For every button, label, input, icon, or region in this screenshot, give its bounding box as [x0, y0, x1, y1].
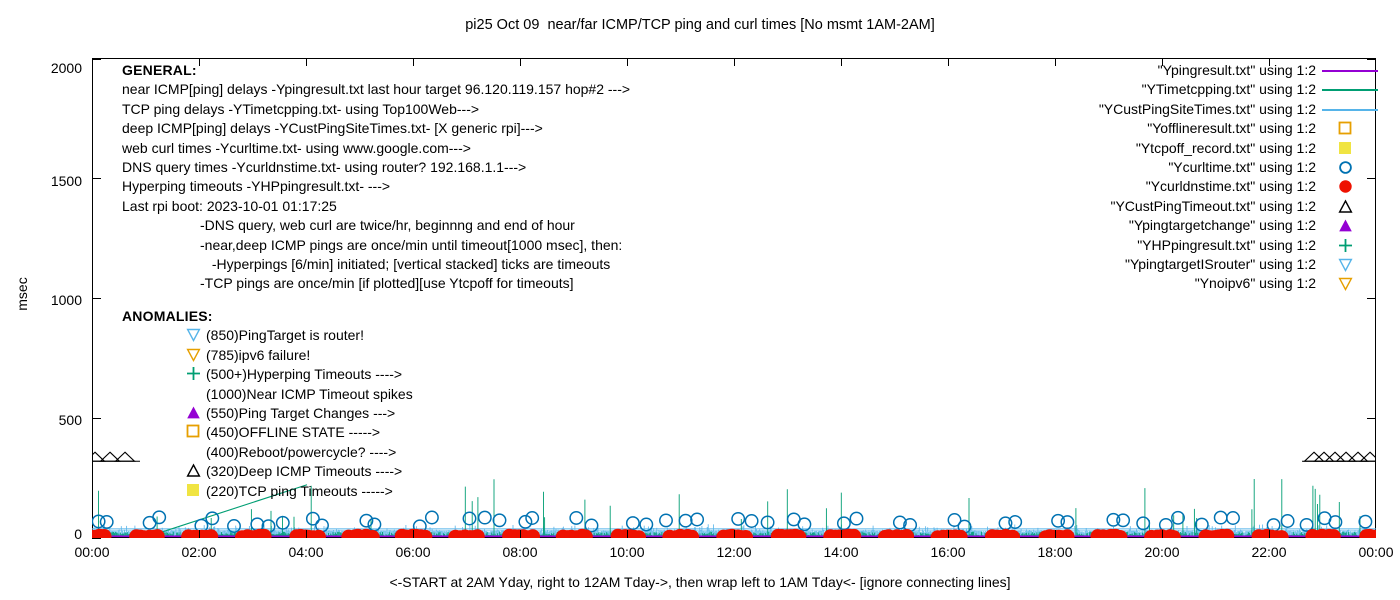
legend-marker-icon — [1338, 276, 1353, 291]
anomaly-marker-open-square-orange-icon — [186, 424, 203, 441]
anomaly-marker-open-down-triangle-blue-icon — [186, 327, 203, 344]
general-line-2: deep ICMP[ping] delays -YCustPingSiteTim… — [122, 119, 630, 138]
x-tick-label-7: 14:00 — [806, 545, 876, 559]
x-tick-mark-7 — [841, 530, 842, 538]
x-tick-mark-8 — [948, 530, 949, 538]
anomaly-row-2: (500+)Hyperping Timeouts ----> — [122, 365, 413, 384]
chart-legend: "Ypingresult.txt" using 1:2"YTimetcpping… — [796, 61, 1316, 294]
legend-line-swatch — [1322, 89, 1378, 91]
anomaly-label-0: (850)PingTarget is router! — [206, 326, 364, 345]
legend-sample-filled-square-icon — [1320, 139, 1380, 158]
x-tick-label-12: 00:00 — [1341, 545, 1400, 559]
anomalies-heading: ANOMALIES: — [122, 307, 413, 326]
anomaly-marker-filled-triangle-purple-icon — [186, 405, 203, 422]
legend-sample-filled-triangle-icon — [1320, 216, 1380, 235]
anomaly-row-1: (785)ipv6 failure! — [122, 346, 413, 365]
x-tick-label-5: 10:00 — [592, 545, 662, 559]
legend-entry-7[interactable]: "YCustPingTimeout.txt" using 1:2 — [796, 197, 1316, 216]
anomalies-rows: (850)PingTarget is router!(785)ipv6 fail… — [122, 326, 413, 501]
general-info-block: GENERAL: near ICMP[ping] delays -Ypingre… — [122, 61, 630, 294]
x-tick-label-11: 22:00 — [1234, 545, 1304, 559]
legend-label-9: "YHPpingresult.txt" using 1:2 — [1137, 236, 1316, 255]
anomalies-block: ANOMALIES: (850)PingTarget is router!(78… — [122, 307, 413, 501]
x-tick-mark-6 — [734, 530, 735, 538]
legend-label-7: "YCustPingTimeout.txt" using 1:2 — [1110, 197, 1316, 216]
legend-marker-icon — [1338, 141, 1353, 156]
general-heading: GENERAL: — [122, 61, 630, 80]
x-tick-label-4: 08:00 — [485, 545, 555, 559]
legend-marker-icon — [1338, 238, 1353, 253]
anomaly-label-7: (320)Deep ICMP Timeouts ----> — [206, 462, 402, 481]
x-tick-label-1: 02:00 — [164, 545, 234, 559]
x-tick-mark-2 — [306, 530, 307, 538]
legend-marker-icon — [1338, 199, 1353, 214]
x-tick-mark-5 — [627, 530, 628, 538]
legend-line-swatch — [1322, 109, 1378, 111]
general-line-4: DNS query times -Ycurldnstime.txt- using… — [122, 158, 630, 177]
anomaly-row-3: (1000)Near ICMP Timeout spikes — [122, 385, 413, 404]
legend-label-1: "YTimetcpping.txt" using 1:2 — [1142, 80, 1316, 99]
anomaly-label-4: (550)Ping Target Changes ---> — [206, 404, 395, 423]
anomaly-row-7: (320)Deep ICMP Timeouts ----> — [122, 462, 413, 481]
legend-sample-line-icon — [1320, 100, 1380, 119]
anomaly-row-6: (400)Reboot/powercycle? ----> — [122, 443, 413, 462]
legend-line-swatch — [1322, 70, 1378, 72]
general-line-1: TCP ping delays -YTimetcpping.txt- using… — [122, 100, 630, 119]
legend-label-3: "Yofflineresult.txt" using 1:2 — [1147, 119, 1316, 138]
general-note-2: -Hyperpings [6/min] initiated; [vertical… — [122, 255, 630, 274]
anomaly-label-3: (1000)Near ICMP Timeout spikes — [206, 385, 413, 404]
legend-entry-4[interactable]: "Ytcpoff_record.txt" using 1:2 — [796, 139, 1316, 158]
legend-entry-0[interactable]: "Ypingresult.txt" using 1:2 — [796, 61, 1316, 80]
general-line-5: Hyperping timeouts -YHPpingresult.txt- -… — [122, 177, 630, 196]
legend-sample-open-square-icon — [1320, 119, 1380, 138]
x-axis-caption: <-START at 2AM Yday, right to 12AM Tday-… — [0, 574, 1400, 590]
anomaly-marker-plus-green-icon — [186, 366, 203, 383]
anomaly-row-0: (850)PingTarget is router! — [122, 326, 413, 345]
legend-label-2: "YCustPingSiteTimes.txt" using 1:2 — [1099, 100, 1316, 119]
anomaly-label-1: (785)ipv6 failure! — [206, 346, 310, 365]
anomaly-marker-none-icon — [186, 386, 203, 403]
anomaly-marker-open-triangle-black-icon — [186, 463, 203, 480]
legend-marker-icon — [1338, 160, 1353, 175]
legend-entry-2[interactable]: "YCustPingSiteTimes.txt" using 1:2 — [796, 100, 1316, 119]
legend-label-0: "Ypingresult.txt" using 1:2 — [1158, 61, 1316, 80]
y-tick-1500: 1500 — [34, 174, 82, 188]
x-tick-mark-6-top — [734, 58, 735, 66]
anomaly-row-8: (220)TCP ping Timeouts -----> — [122, 482, 413, 501]
legend-sample-open-circle-icon — [1320, 158, 1380, 177]
general-line-0: near ICMP[ping] delays -Ypingresult.txt … — [122, 80, 630, 99]
legend-entry-9[interactable]: "YHPpingresult.txt" using 1:2 — [796, 236, 1316, 255]
x-tick-label-6: 12:00 — [699, 545, 769, 559]
legend-label-8: "Ypingtargetchange" using 1:2 — [1129, 216, 1316, 235]
x-tick-mark-11 — [1269, 530, 1270, 538]
x-tick-mark-9 — [1055, 530, 1056, 538]
legend-marker-icon — [1338, 179, 1353, 194]
legend-entry-3[interactable]: "Yofflineresult.txt" using 1:2 — [796, 119, 1316, 138]
legend-label-11: "Ynoipv6" using 1:2 — [1195, 274, 1316, 293]
anomaly-label-6: (400)Reboot/powercycle? ----> — [206, 443, 396, 462]
legend-marker-icon — [1338, 257, 1353, 272]
legend-entry-1[interactable]: "YTimetcpping.txt" using 1:2 — [796, 80, 1316, 99]
x-tick-label-3: 06:00 — [378, 545, 448, 559]
legend-sample-open-down-triangle-icon — [1320, 255, 1380, 274]
x-tick-label-10: 20:00 — [1127, 545, 1197, 559]
anomaly-marker-filled-square-yellow-icon — [186, 483, 203, 500]
anomaly-label-5: (450)OFFLINE STATE -----> — [206, 423, 380, 442]
legend-label-10: "YpingtargetISrouter" using 1:2 — [1125, 255, 1316, 274]
general-line-6: Last rpi boot: 2023-10-01 01:17:25 — [122, 197, 630, 216]
legend-marker-icon — [1338, 218, 1353, 233]
y-tick-500: 500 — [34, 413, 82, 427]
x-tick-mark-10 — [1162, 530, 1163, 538]
anomaly-marker-open-down-triangle-orange-icon — [186, 347, 203, 364]
legend-sample-filled-circle-icon — [1320, 177, 1380, 196]
general-note-3: -TCP pings are once/min [if plotted][use… — [122, 274, 630, 293]
legend-sample-plus-icon — [1320, 236, 1380, 255]
general-note-1: -near,deep ICMP pings are once/min until… — [122, 236, 630, 255]
legend-sample-open-down-triangle-icon — [1320, 274, 1380, 293]
legend-label-5: "Ycurltime.txt" using 1:2 — [1168, 158, 1316, 177]
legend-sample-line-icon — [1320, 80, 1380, 99]
anomaly-label-2: (500+)Hyperping Timeouts ----> — [206, 365, 402, 384]
legend-label-6: "Ycurldnstime.txt" using 1:2 — [1146, 177, 1316, 196]
legend-entry-11[interactable]: "Ynoipv6" using 1:2 — [796, 274, 1316, 293]
x-tick-mark-4 — [520, 530, 521, 538]
y-axis-label: msec — [14, 264, 30, 324]
anomaly-row-5: (450)OFFLINE STATE -----> — [122, 423, 413, 442]
y-tick-1000: 1000 — [34, 293, 82, 307]
y-tick-mark-0 — [92, 538, 101, 539]
anomaly-label-8: (220)TCP ping Timeouts -----> — [206, 482, 393, 501]
legend-marker-icon — [1338, 121, 1353, 136]
legend-entry-6[interactable]: "Ycurldnstime.txt" using 1:2 — [796, 177, 1316, 196]
anomaly-marker-none-icon — [186, 444, 203, 461]
legend-sample-open-triangle-icon — [1320, 197, 1380, 216]
x-tick-label-9: 18:00 — [1020, 545, 1090, 559]
x-tick-mark-1 — [199, 530, 200, 538]
legend-label-4: "Ytcpoff_record.txt" using 1:2 — [1136, 139, 1316, 158]
legend-sample-line-icon — [1320, 61, 1380, 80]
legend-entry-10[interactable]: "YpingtargetISrouter" using 1:2 — [796, 255, 1316, 274]
chart-title: pi25 Oct 09 near/far ICMP/TCP ping and c… — [0, 17, 1400, 33]
x-tick-label-2: 04:00 — [271, 545, 341, 559]
y-tick-2000: 2000 — [34, 61, 82, 75]
x-tick-mark-3 — [413, 530, 414, 538]
legend-entry-8[interactable]: "Ypingtargetchange" using 1:2 — [796, 216, 1316, 235]
anomaly-row-4: (550)Ping Target Changes ---> — [122, 404, 413, 423]
y-tick-0: 0 — [34, 527, 82, 541]
general-line-3: web curl times -Ycurltime.txt- using www… — [122, 139, 630, 158]
legend-entry-5[interactable]: "Ycurltime.txt" using 1:2 — [796, 158, 1316, 177]
x-tick-label-8: 16:00 — [913, 545, 983, 559]
x-tick-label-0: 00:00 — [57, 545, 127, 559]
general-note-0: -DNS query, web curl are twice/hr, begin… — [122, 216, 630, 235]
